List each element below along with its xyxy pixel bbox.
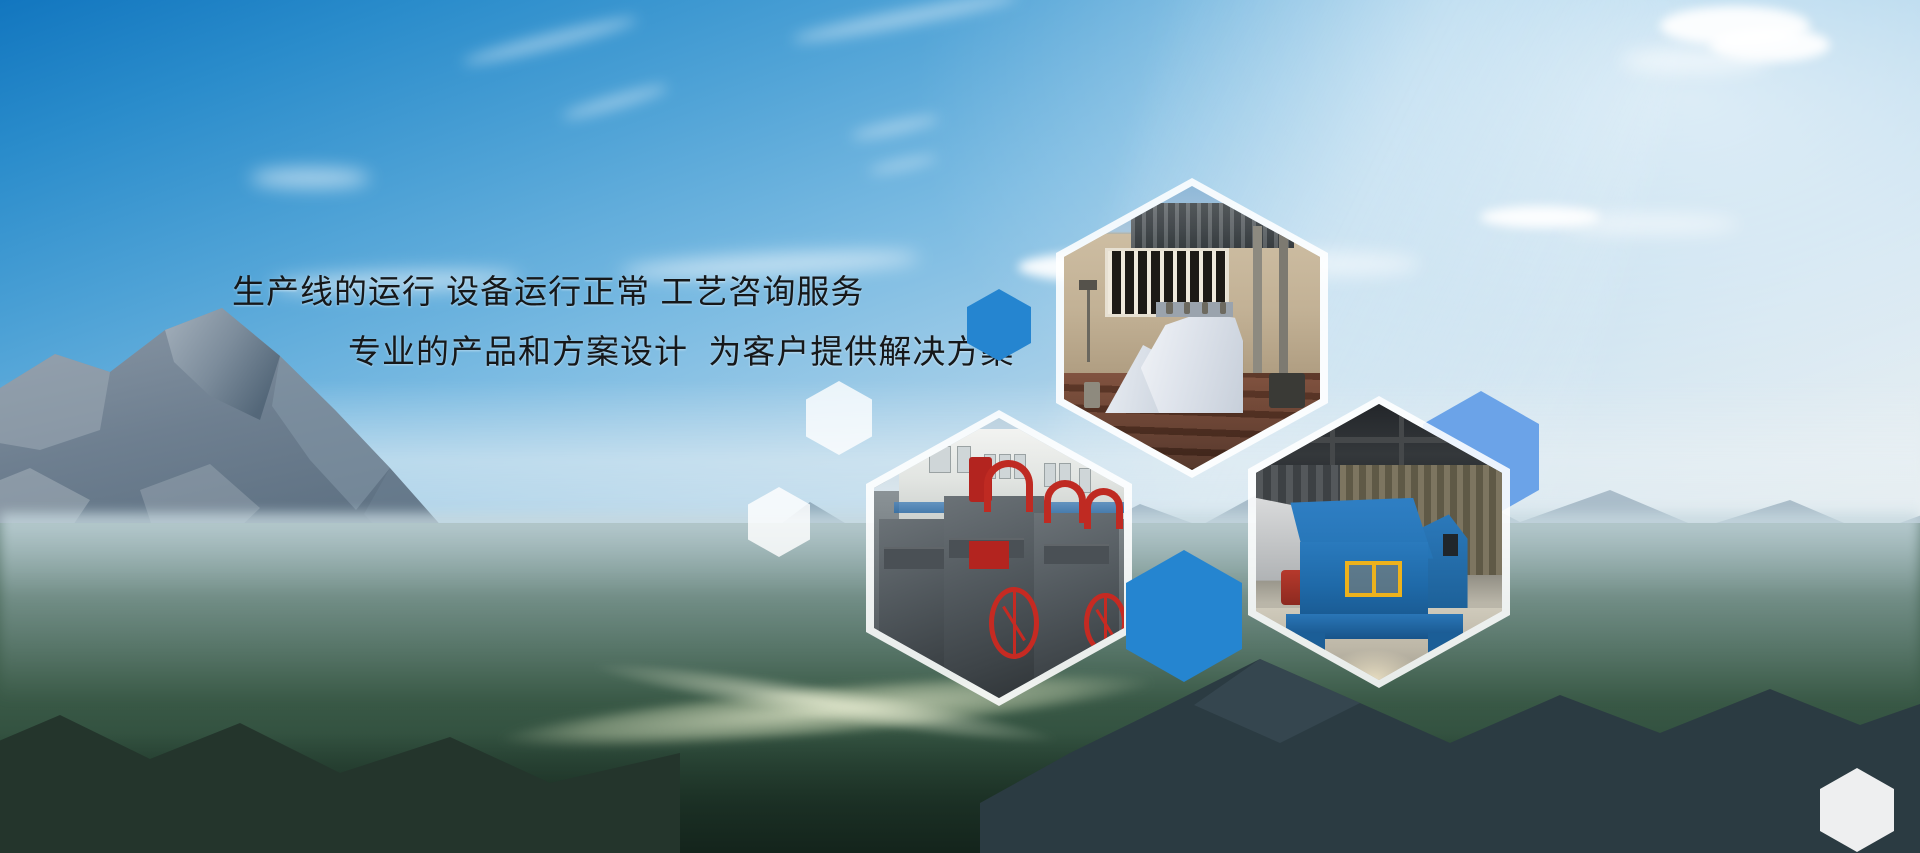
foreground-ridge-left: [0, 663, 680, 853]
headline-block: 生产线的运行 设备运行正常 工艺咨询服务 专业的产品和方案设计 为客户提供解决方…: [0, 262, 1120, 382]
hex-photo-bottom-right-image: [1256, 404, 1502, 680]
hex-photo-top-image: [1064, 186, 1320, 470]
hex-photo-bottom-left-image: [874, 418, 1124, 698]
headline-line-2: 专业的产品和方案设计 为客户提供解决方案: [0, 322, 1120, 382]
hero-banner: 生产线的运行 设备运行正常 工艺咨询服务 专业的产品和方案设计 为客户提供解决方…: [0, 0, 1920, 853]
headline-line-1: 生产线的运行 设备运行正常 工艺咨询服务: [0, 262, 1120, 322]
